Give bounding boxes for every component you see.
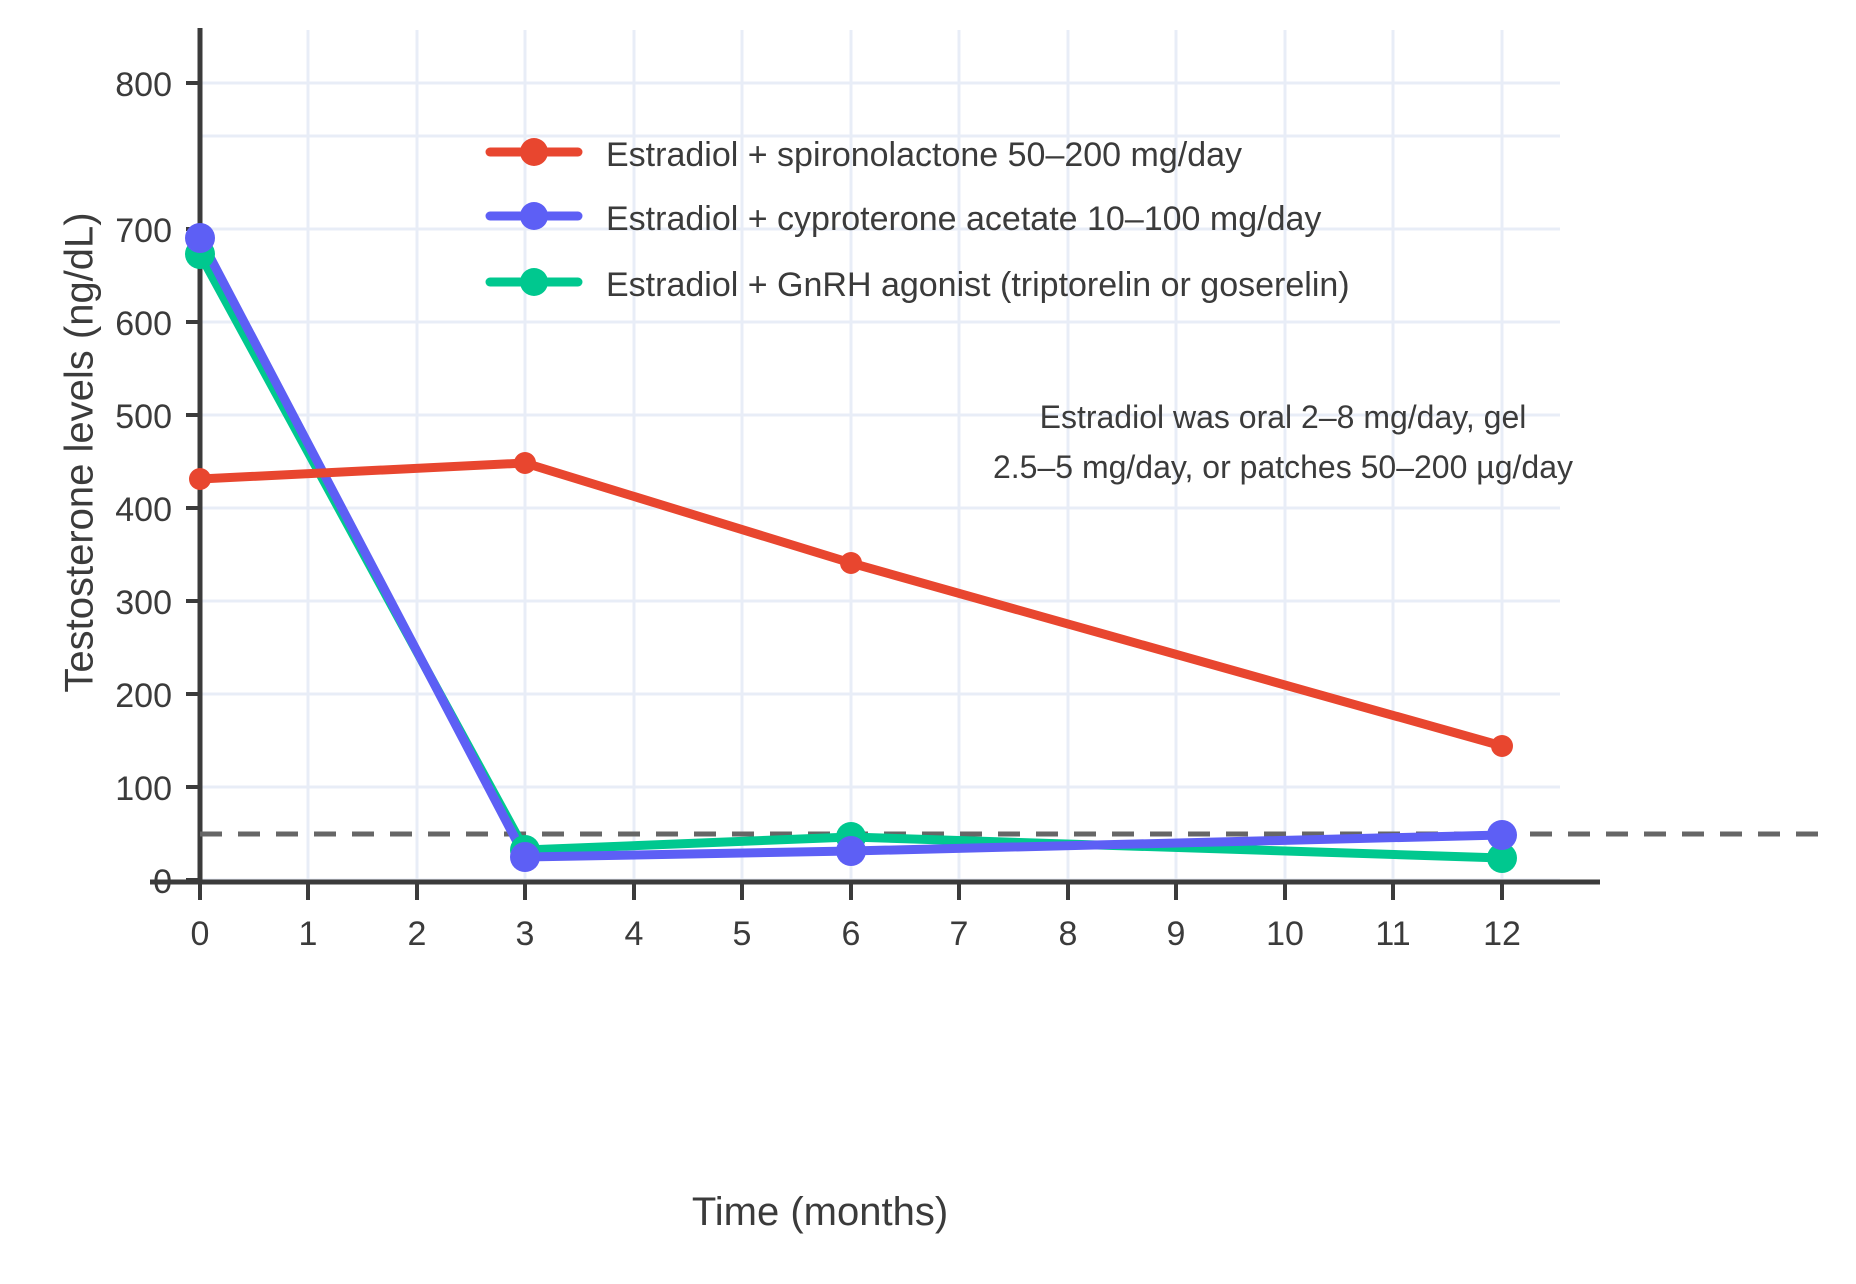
x-tick-label: 2: [408, 915, 427, 953]
legend-label: Estradiol + cyproterone acetate 10–100 m…: [606, 200, 1321, 238]
chart-legend: Estradiol + spironolactone 50–200 mg/day…: [490, 136, 1350, 304]
y-tick-label: 100: [115, 770, 172, 808]
legend-swatch-marker: [520, 138, 548, 166]
x-tick-label: 5: [733, 915, 752, 953]
x-tick-label: 3: [516, 915, 535, 953]
legend-item-spironolactone[interactable]: Estradiol + spironolactone 50–200 mg/day: [490, 136, 1242, 174]
chart-figure: 0 100 200 300 400 500 600 700 800 0 1 2 …: [0, 0, 1856, 1284]
y-tick-label: 200: [115, 677, 172, 715]
legend-swatch-marker: [520, 202, 548, 230]
x-tick-labels: 0 1 2 3 4 5 6 7 8 9 10 11 12: [191, 915, 1521, 953]
x-tick-label: 1: [299, 915, 318, 953]
legend-swatch-marker: [520, 268, 548, 296]
data-point: [1487, 820, 1517, 850]
x-tick-label: 7: [950, 915, 969, 953]
y-tick-label: 500: [115, 398, 172, 436]
legend-item-gnrh-agonist[interactable]: Estradiol + GnRH agonist (triptorelin or…: [490, 266, 1350, 304]
x-tick-label: 6: [842, 915, 861, 953]
x-tick-label: 8: [1059, 915, 1078, 953]
line-chart-canvas: 0 100 200 300 400 500 600 700 800 0 1 2 …: [0, 0, 1856, 1284]
y-tick-labels: 0 100 200 300 400 500 600 700 800: [115, 66, 172, 901]
x-tick-label: 10: [1266, 915, 1304, 953]
data-point: [514, 452, 536, 474]
x-tick-label: 11: [1375, 915, 1410, 953]
y-tick-label: 600: [115, 305, 172, 343]
x-axis-title: Time (months): [0, 1190, 1640, 1235]
legend-label: Estradiol + GnRH agonist (triptorelin or…: [606, 266, 1350, 304]
chart-annotation: Estradiol was oral 2–8 mg/day, gel 2.5–5…: [993, 399, 1573, 485]
data-point: [836, 836, 866, 866]
x-tick-label: 0: [191, 915, 210, 953]
x-tick-label: 4: [625, 915, 644, 953]
x-tick-label: 9: [1167, 915, 1186, 953]
y-tick-label: 0: [153, 863, 172, 901]
y-axis-title: Testosterone levels (ng/dL): [58, 73, 103, 833]
data-point: [185, 223, 215, 253]
annotation-line-2: 2.5–5 mg/day, or patches 50–200 µg/day: [993, 449, 1573, 485]
x-tick-marks: [200, 882, 1502, 900]
data-point: [840, 552, 862, 574]
y-tick-label: 700: [115, 212, 172, 250]
y-tick-label: 300: [115, 584, 172, 622]
legend-label: Estradiol + spironolactone 50–200 mg/day: [606, 136, 1242, 174]
y-tick-label: 400: [115, 491, 172, 529]
y-tick-label: 800: [115, 66, 172, 104]
data-point: [510, 842, 540, 872]
data-point: [1491, 735, 1513, 757]
legend-item-cyproterone-acetate[interactable]: Estradiol + cyproterone acetate 10–100 m…: [490, 200, 1321, 238]
x-tick-label: 12: [1483, 915, 1521, 953]
data-point: [189, 468, 211, 490]
annotation-line-1: Estradiol was oral 2–8 mg/day, gel: [1040, 399, 1527, 435]
